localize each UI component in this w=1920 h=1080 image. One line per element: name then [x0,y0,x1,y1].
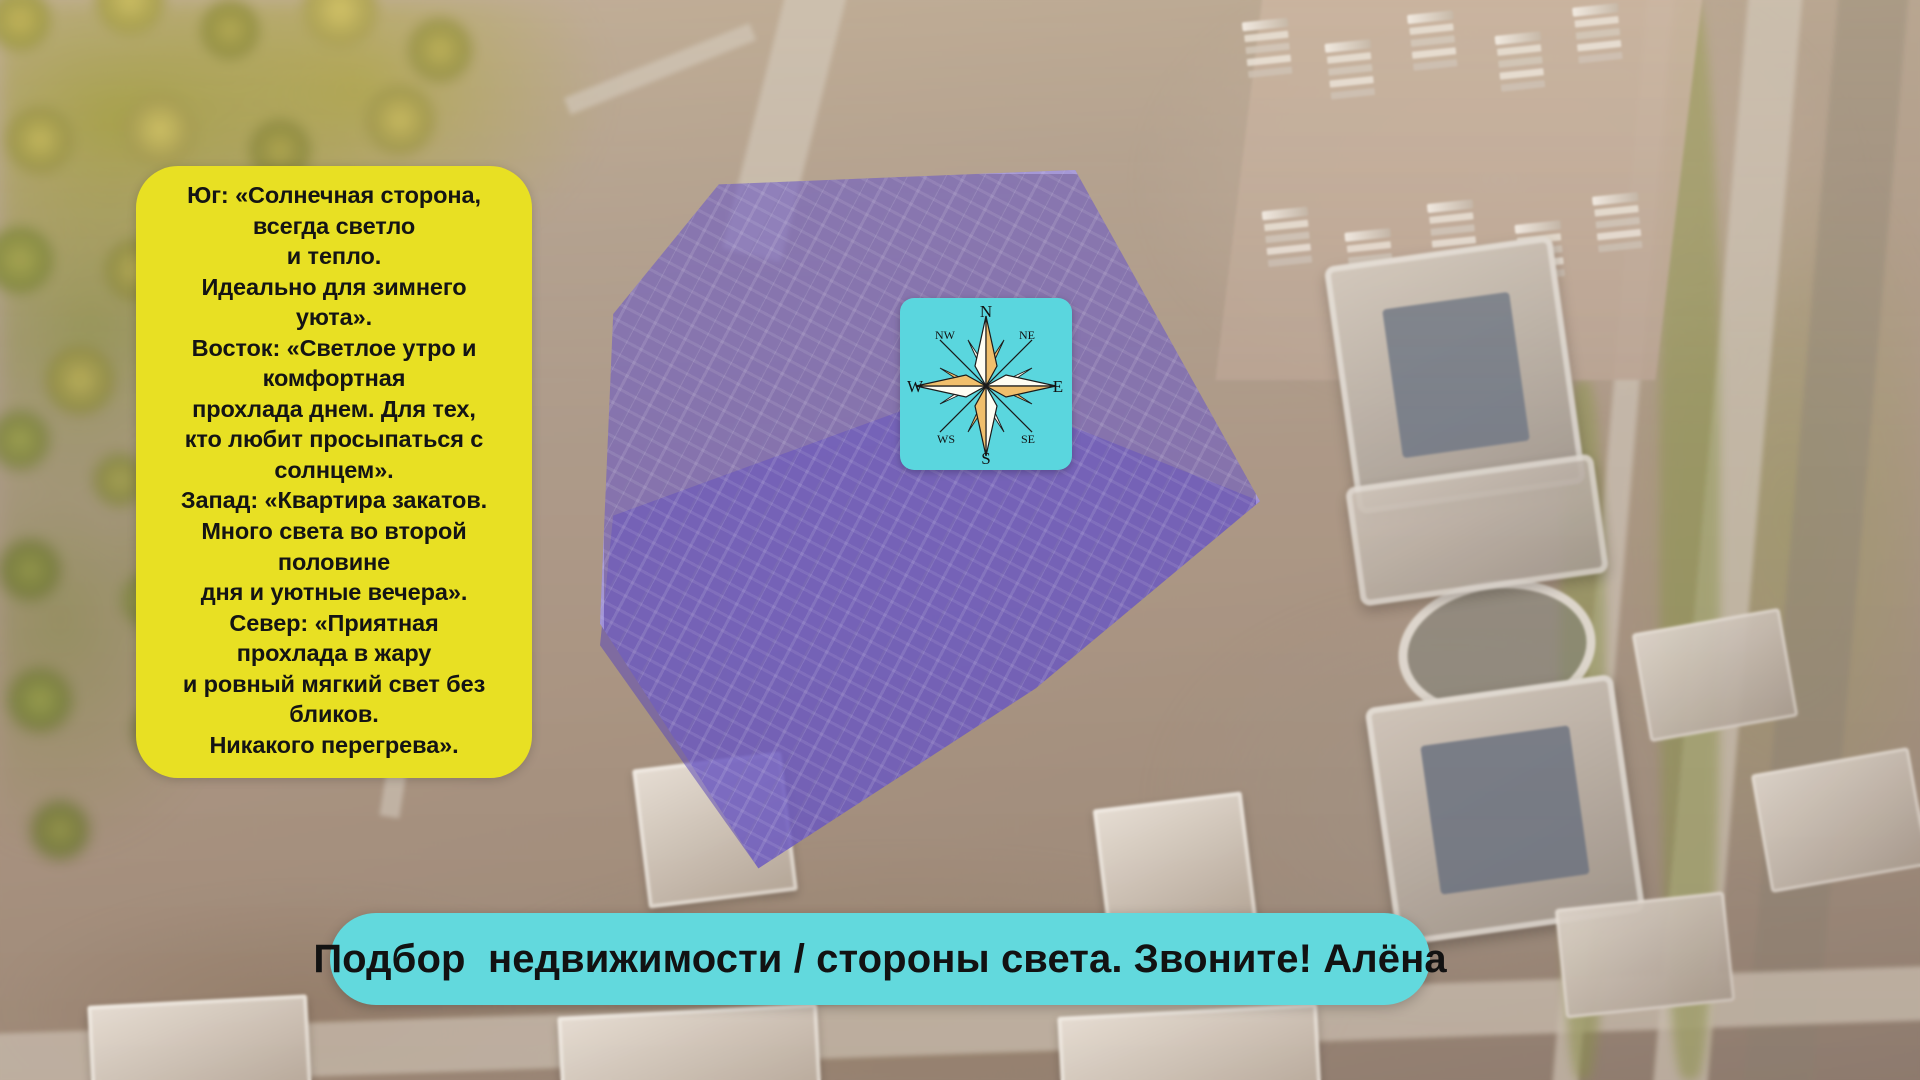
compass-label-nw: NW [935,328,956,342]
callout-line: Восток: «Светлое утро и [152,333,516,364]
callout-line: Никакого перегрева». [152,730,516,761]
callout-line: бликов. [152,699,516,730]
callout-line: всегда светло [152,211,516,242]
compass-label-w: W [907,377,924,396]
callout-line: и ровный мягкий свет без [152,669,516,700]
contact-banner-text: Подбор недвижимости / стороны света. Зво… [313,937,1446,982]
callout-line: прохлада днем. Для тех, [152,394,516,425]
callout-line: Север: «Приятная [152,608,516,639]
callout-line: кто любит просыпаться с [152,424,516,455]
poster-canvas: N NE E SE S WS W NW Юг: «Солнечная сторо… [0,0,1920,1080]
callout-line: и тепло. [152,241,516,272]
compass-label-n: N [980,302,992,321]
callout-line: Юг: «Солнечная сторона, [152,180,516,211]
foreground-building-center [557,1003,822,1080]
foreground-building-far-left [87,994,312,1080]
callout-line: Много света во второй [152,516,516,547]
orientation-advice-callout: Юг: «Солнечная сторона, всегда светло и … [136,166,532,778]
compass-rose: N NE E SE S WS W NW [900,298,1072,470]
callout-line: прохлада в жару [152,638,516,669]
foreground-building-right [1057,1003,1322,1080]
highlighted-building [600,170,1260,890]
contact-banner[interactable]: Подбор недвижимости / стороны света. Зво… [330,913,1430,1005]
callout-line: комфортная [152,363,516,394]
callout-line: дня и уютные вечера». [152,577,516,608]
compass-label-se: SE [1021,432,1035,446]
callout-line: солнцем». [152,455,516,486]
callout-line: половине [152,547,516,578]
compass-label-e: E [1053,377,1063,396]
compass-label-ne: NE [1019,328,1035,342]
callout-line: уюта». [152,302,516,333]
roof-panel-south [1420,725,1589,894]
city-block-c [1555,891,1736,1018]
compass-label-s: S [981,449,990,468]
roof-panel-north [1382,292,1530,458]
compass-label-ws: WS [937,432,955,446]
callout-line: Запад: «Квартира закатов. [152,485,516,516]
callout-line: Идеально для зимнего [152,272,516,303]
